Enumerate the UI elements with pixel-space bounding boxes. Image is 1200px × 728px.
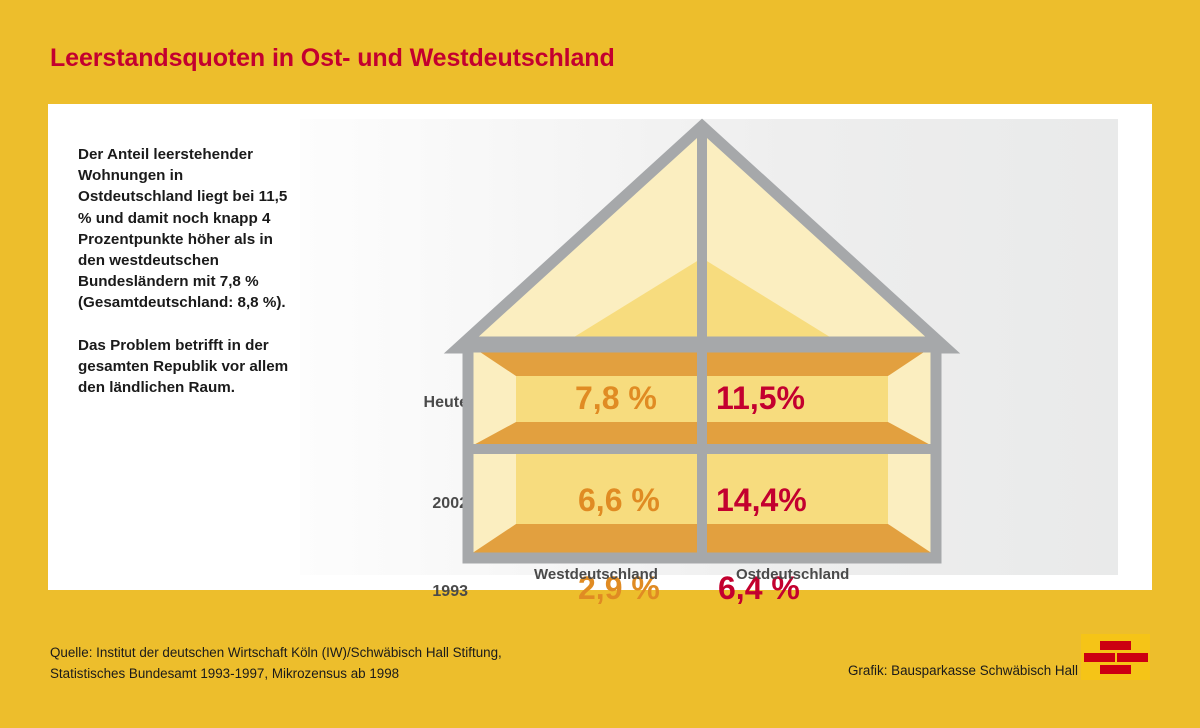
logo-brick-middle-right bbox=[1117, 653, 1148, 662]
value-west-heute: 7,8 % bbox=[575, 380, 657, 417]
logo-brick-middle-left bbox=[1084, 653, 1115, 662]
footer-credit: Grafik: Bausparkasse Schwäbisch Hall bbox=[848, 663, 1078, 678]
column-label-westdeutschland: Westdeutschland bbox=[534, 566, 658, 583]
brand-logo-icon bbox=[1081, 634, 1150, 680]
logo-brick-bottom bbox=[1100, 665, 1131, 674]
page-title: Leerstandsquoten in Ost- und Westdeutsch… bbox=[50, 44, 615, 73]
source-line-2: Statistisches Bundesamt 1993-1997, Mikro… bbox=[50, 663, 502, 684]
content-panel: Der Anteil leerstehender Wohnungen in Os… bbox=[48, 104, 1152, 590]
footer-source: Quelle: Institut der deutschen Wirtschaf… bbox=[50, 642, 502, 684]
logo-brick-top bbox=[1100, 641, 1131, 650]
column-label-ostdeutschland: Ostdeutschland bbox=[736, 566, 849, 583]
value-east-2002: 14,4% bbox=[716, 482, 807, 519]
source-line-1: Quelle: Institut der deutschen Wirtschaf… bbox=[50, 642, 502, 663]
value-east-heute: 11,5% bbox=[716, 380, 805, 417]
value-west-2002: 6,6 % bbox=[578, 482, 660, 519]
